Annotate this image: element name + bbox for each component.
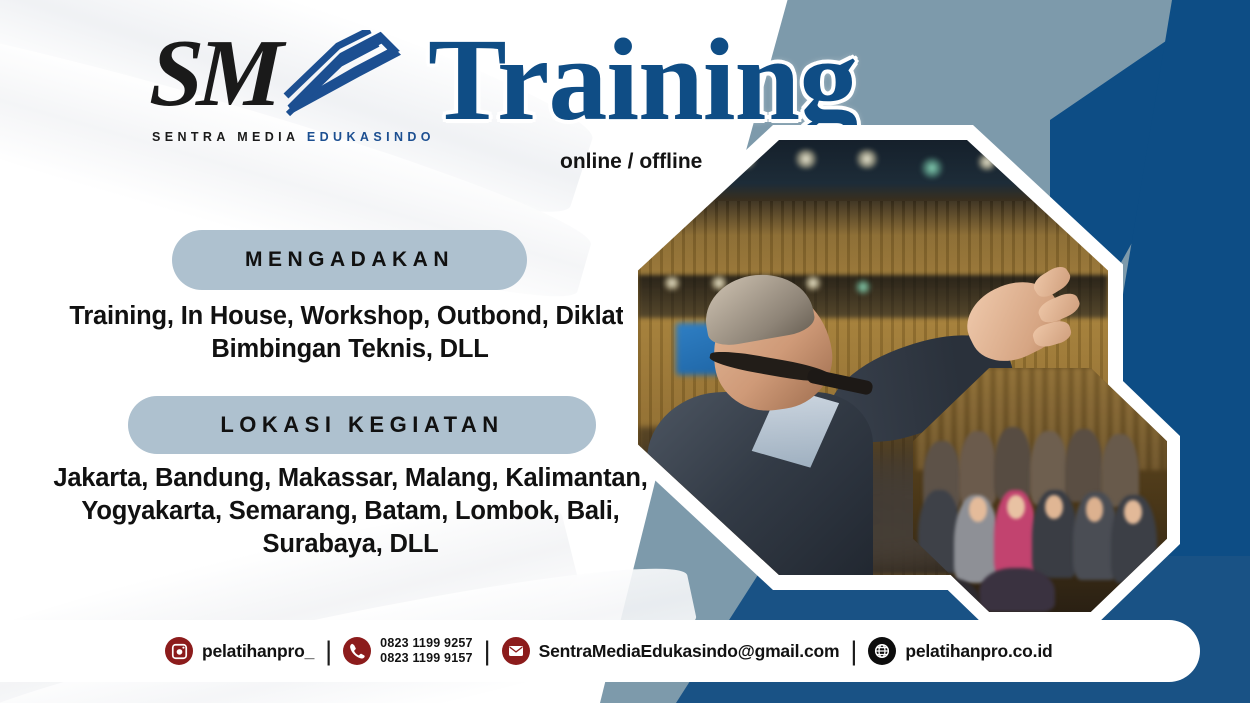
logo-wordmark-primary: SENTRA MEDIA xyxy=(152,130,307,144)
badge-lokasi-kegiatan: LOKASI KEGIATAN xyxy=(128,396,596,454)
contact-email[interactable]: SentraMediaEdukasindo@gmail.com xyxy=(502,637,840,665)
envelope-icon xyxy=(502,637,530,665)
services-list-text: Training, In House, Workshop, Outbond, D… xyxy=(40,300,660,366)
page-title: Training xyxy=(428,18,857,142)
company-logo[interactable]: SM SENTRA MEDIA EDUKASINDO xyxy=(150,26,415,146)
instagram-handle: pelatihanpro_ xyxy=(202,641,314,662)
promotional-banner: SM SENTRA MEDIA EDUKASINDO Training onli… xyxy=(0,0,1250,703)
website-url: pelatihanpro.co.id xyxy=(905,641,1052,662)
logo-wordmark: SENTRA MEDIA EDUKASINDO xyxy=(152,130,435,144)
phone-number-2: 0823 1199 9157 xyxy=(380,651,472,665)
phone-icon xyxy=(343,637,371,665)
logo-monogram-wrap: SM xyxy=(150,26,415,118)
contact-website[interactable]: pelatihanpro.co.id xyxy=(868,637,1052,665)
instagram-icon xyxy=(165,637,193,665)
locations-list-text: Jakarta, Bandung, Makassar, Malang, Kali… xyxy=(18,462,683,561)
phone-number-1: 0823 1199 9257 xyxy=(380,636,472,650)
open-book-icon xyxy=(282,30,402,118)
contact-instagram[interactable]: pelatihanpro_ xyxy=(165,637,314,665)
contact-phone[interactable]: 0823 1199 9257 0823 1199 9157 xyxy=(343,636,472,667)
phone-numbers: 0823 1199 9257 0823 1199 9157 xyxy=(380,636,472,667)
logo-wordmark-secondary: EDUKASINDO xyxy=(307,130,435,144)
contact-separator-2: | xyxy=(484,638,491,665)
page-subtitle: online / offline xyxy=(560,150,702,174)
globe-icon xyxy=(868,637,896,665)
logo-monogram-text: SM xyxy=(148,27,278,118)
contact-separator-1: | xyxy=(325,638,332,665)
badge-mengadakan: MENGADAKAN xyxy=(172,230,527,290)
contact-separator-3: | xyxy=(850,638,857,665)
contact-bar: pelatihanpro_ | 0823 1199 9257 0823 1199… xyxy=(0,620,1200,682)
email-address: SentraMediaEdukasindo@gmail.com xyxy=(539,641,840,662)
